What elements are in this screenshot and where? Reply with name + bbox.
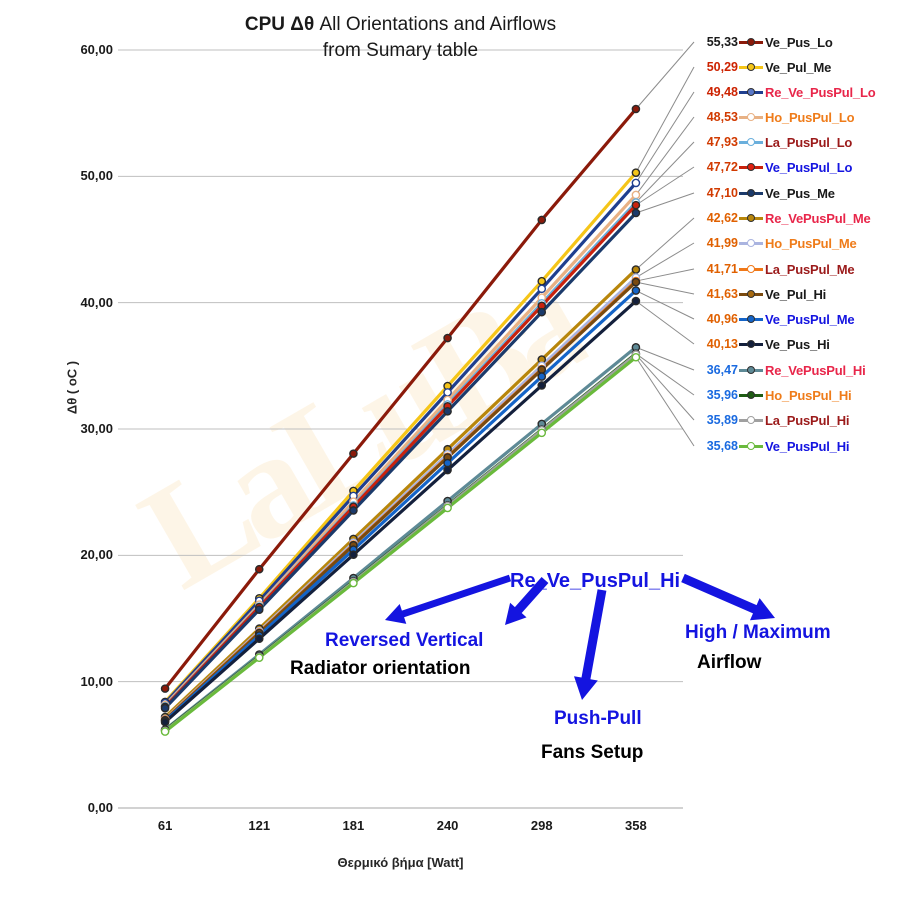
annotation-arrows	[0, 0, 901, 901]
arrow-to-airflow	[681, 574, 775, 620]
arrow-to-orientation	[385, 575, 511, 624]
arrow-to-orientation-2	[505, 577, 548, 625]
arrow-to-fans-setup	[574, 589, 606, 700]
chart-container: LaLuBa CPU Δθ All Orientations and Airfl…	[0, 0, 901, 901]
